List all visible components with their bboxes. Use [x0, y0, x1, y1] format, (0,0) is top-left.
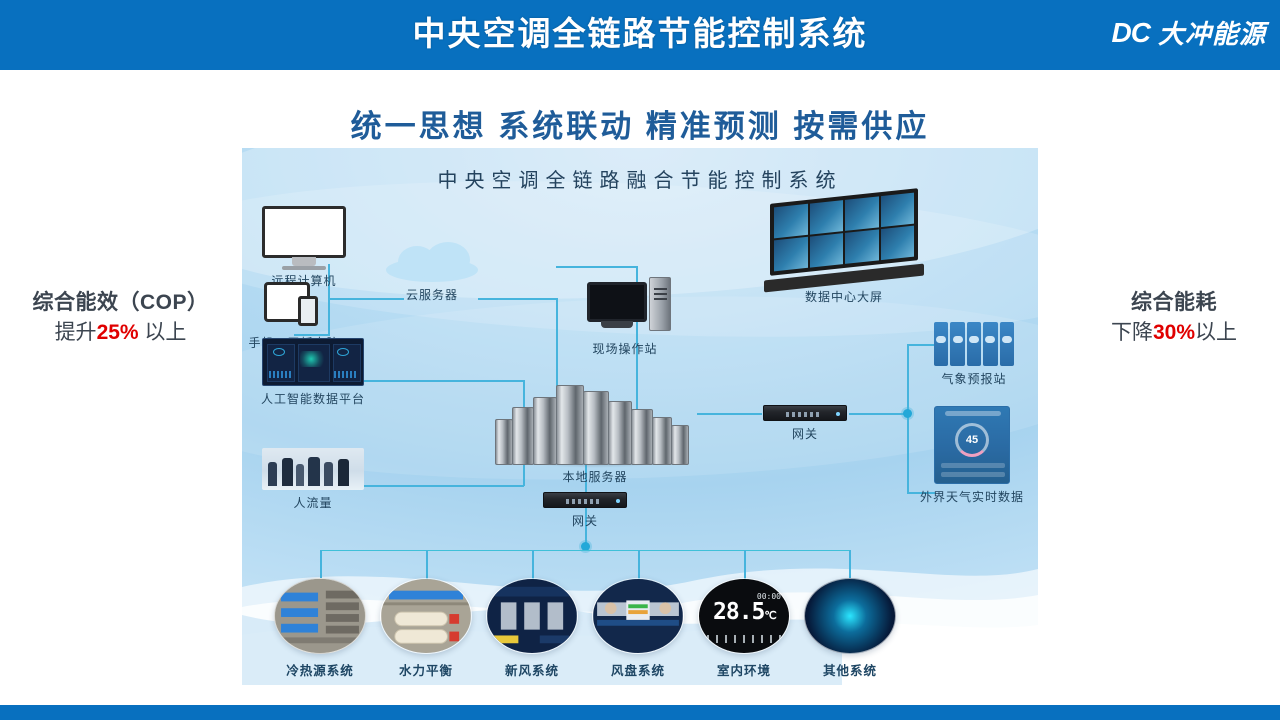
callout-left: 综合能效（COP） 提升25% 以上	[8, 288, 233, 348]
device-remote-computer[interactable]: 远程计算机	[262, 206, 346, 258]
gateway-icon	[763, 405, 847, 421]
device-ai-platform[interactable]: 人工智能数据平台	[262, 338, 364, 386]
label-ai-platform: 人工智能数据平台	[242, 390, 413, 407]
label-gateway-bottom: 网关	[485, 512, 685, 529]
people-flow-icon	[262, 448, 364, 490]
device-data-center-screen[interactable]: 数据中心大屏	[770, 196, 918, 268]
label-operator-station: 现场操作站	[525, 340, 725, 357]
server-rack-icon	[495, 370, 695, 465]
callout-right-highlight: 30%	[1153, 321, 1195, 344]
device-operator-station[interactable]: 现场操作站	[587, 282, 677, 322]
brand-mark-icon: DC	[1112, 17, 1150, 49]
chiller-plant-icon	[274, 578, 366, 654]
device-gateway-right[interactable]: 网关	[763, 405, 847, 421]
link-node	[903, 409, 912, 418]
weather-panel-icon: 45	[934, 406, 1010, 484]
gateway-icon	[543, 492, 627, 508]
device-gateway-bottom[interactable]: 网关	[543, 492, 627, 508]
callout-right-suffix: 以上	[1195, 321, 1237, 344]
brand-name: 大冲能源	[1158, 14, 1266, 51]
label-cloud-server: 云服务器	[332, 286, 532, 303]
thermostat-clock: 00:00	[757, 592, 781, 601]
footer-bar	[0, 705, 1280, 720]
monitor-icon	[262, 206, 346, 258]
brand-logo: DC 大冲能源	[1112, 14, 1266, 51]
workstation-monitor-icon	[587, 282, 647, 322]
thermostat-icon: 28.5℃ 00:00	[698, 578, 790, 654]
label-people-flow: 人流量	[242, 494, 413, 511]
pipe-balance-icon	[380, 578, 472, 654]
link-server-gateway	[697, 413, 762, 415]
device-cloud-server[interactable]: 云服务器	[386, 242, 478, 282]
callout-right-prefix: 下降	[1111, 321, 1153, 344]
device-weather-forecast[interactable]: 气象预报站	[934, 322, 1014, 366]
label-data-center-screen: 数据中心大屏	[744, 288, 944, 305]
callout-left-highlight: 25%	[97, 321, 139, 344]
device-local-server[interactable]: 本地服务器	[495, 370, 695, 465]
callout-left-prefix: 提升	[55, 321, 97, 344]
link-weather-trunk	[907, 344, 909, 494]
label-weather-forecast: 气象预报站	[874, 370, 1038, 387]
page-title: 中央空调全链路节能控制系统	[0, 6, 1280, 61]
device-people-flow[interactable]: 人流量	[262, 448, 364, 490]
ai-dashboard-icon	[262, 338, 364, 386]
callout-left-suffix: 以上	[139, 321, 187, 344]
callout-left-title: 综合能效（COP）	[8, 288, 233, 318]
link-gateway-weather	[849, 413, 909, 415]
weather-gauge-value: 45	[955, 423, 989, 457]
other-systems-icon	[804, 578, 896, 654]
diagram-title: 中央空调全链路融合节能控制系统	[242, 164, 1038, 193]
subsystem-bus	[320, 550, 850, 572]
link-screen-left	[556, 266, 638, 268]
weather-forecast-icon	[934, 322, 1014, 366]
link-weather-forecast	[907, 344, 935, 346]
link-people-right	[364, 485, 524, 487]
label-weather-realtime: 外界天气实时数据	[872, 488, 1038, 505]
slide-subtitle: 统一思想 系统联动 精准预测 按需供应	[0, 101, 1280, 146]
system-architecture-diagram: 中央空调全链路融合节能控制系统	[242, 148, 1038, 685]
slide-root: 中央空调全链路节能控制系统 DC 大冲能源 统一思想 系统联动 精准预测 按需供…	[0, 0, 1280, 720]
device-weather-realtime[interactable]: 45 外界天气实时数据	[934, 406, 1010, 484]
video-wall-icon	[770, 188, 918, 276]
header-bar: 中央空调全链路节能控制系统 DC 大冲能源	[0, 0, 1280, 70]
callout-right-title: 综合能耗	[1074, 288, 1274, 318]
thermostat-temperature: 28.5℃	[713, 599, 776, 625]
cloud-icon	[386, 242, 478, 282]
label-gateway-right: 网关	[705, 425, 905, 442]
phone-icon	[298, 296, 318, 326]
callout-left-value: 提升25% 以上	[8, 318, 233, 348]
device-mobile-tablet[interactable]: 手机、平板电脑	[264, 282, 324, 326]
workstation-tower-icon	[649, 277, 671, 331]
label-other-systems: 其他系统	[770, 660, 930, 679]
callout-right: 综合能耗 下降30%以上	[1074, 288, 1274, 348]
callout-right-value: 下降30%以上	[1074, 318, 1274, 348]
label-local-server: 本地服务器	[495, 468, 695, 485]
fan-coil-icon	[592, 578, 684, 654]
fresh-air-icon	[486, 578, 578, 654]
link-bus-to-mobile	[328, 298, 330, 336]
